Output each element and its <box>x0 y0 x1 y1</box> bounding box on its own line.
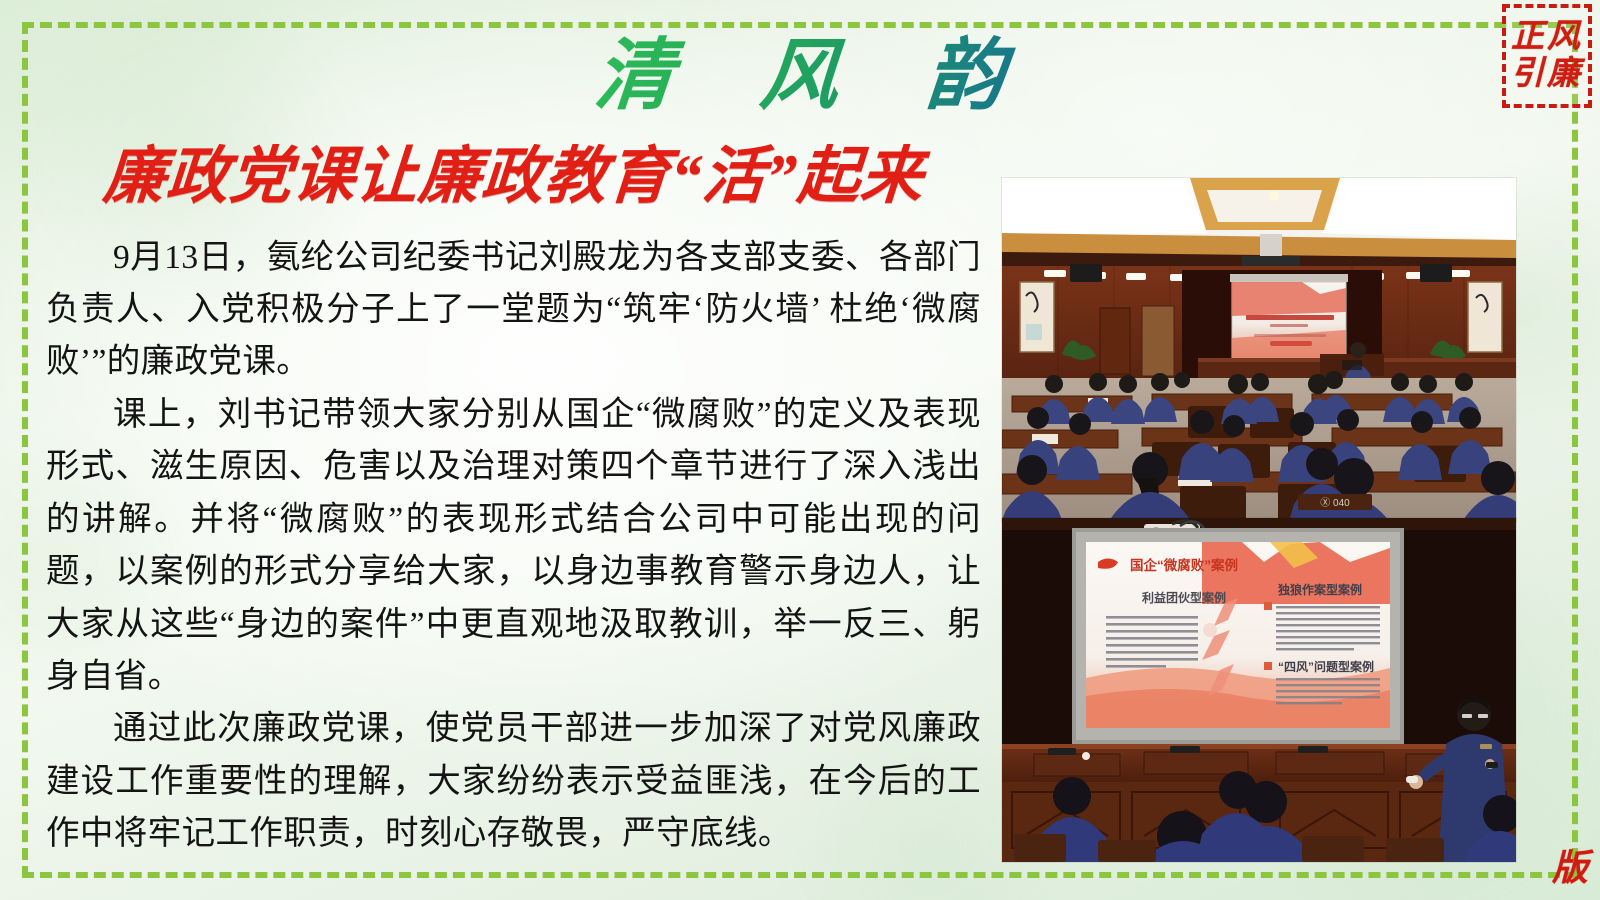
svg-text:独狼作案型案例: 独狼作案型案例 <box>1277 582 1362 597</box>
svg-text:Ⓧ 040: Ⓧ 040 <box>1320 497 1350 509</box>
article-paragraph-1: 9月13日，氨纶公司纪委书记刘殿龙为各支部支委、各部门负责人、入党积极分子上了一… <box>46 232 981 389</box>
speaker-presenting-photo: 国企“微腐败”案例 利益团伙型案例 独狼作案型案例 <box>1002 518 1516 862</box>
article-paragraph-3: 通过此次廉政党课，使党员干部进一步加深了对党风廉政建设工作重要性的理解，大家纷纷… <box>46 703 981 860</box>
article-headline: 廉政党课让廉政教育“活”起来 <box>43 140 983 216</box>
meeting-room-audience-photo: Ⓧ 040 <box>1002 178 1516 522</box>
meeting-room-audience-illustration: Ⓧ 040 <box>1002 178 1516 522</box>
article-paragraph-2: 课上，刘书记带领大家分别从国企“微腐败”的定义及表现形式、滋生原因、危害以及治理… <box>46 389 981 704</box>
page-mark: 版 <box>1552 850 1588 886</box>
article-column: 廉政党课让廉政教育“活”起来 9月13日，氨纶公司纪委书记刘殿龙为各支部支委、各… <box>46 140 981 861</box>
svg-text:“四风”问题型案例: “四风”问题型案例 <box>1278 659 1374 674</box>
seal-badge: 正风 引廉 <box>1502 4 1592 108</box>
masthead-title: 清 风 韵 <box>558 34 1042 118</box>
svg-text:国企“微腐败”案例: 国企“微腐败”案例 <box>1130 557 1238 573</box>
speaker-presenting-illustration: 国企“微腐败”案例 利益团伙型案例 独狼作案型案例 <box>1002 518 1516 862</box>
seal-line-1: 正风 <box>1511 19 1583 56</box>
svg-text:利益团伙型案例: 利益团伙型案例 <box>1142 590 1226 605</box>
newsletter-page: 清 风 韵 正风 引廉 廉政党课让廉政教育“活”起来 9月13日，氨纶公司纪委书… <box>0 0 1600 900</box>
article-body: 9月13日，氨纶公司纪委书记刘殿龙为各支部支委、各部门负责人、入党积极分子上了一… <box>46 232 981 861</box>
masthead: 清 风 韵 <box>0 34 1600 118</box>
seal-line-2: 引廉 <box>1511 56 1583 93</box>
